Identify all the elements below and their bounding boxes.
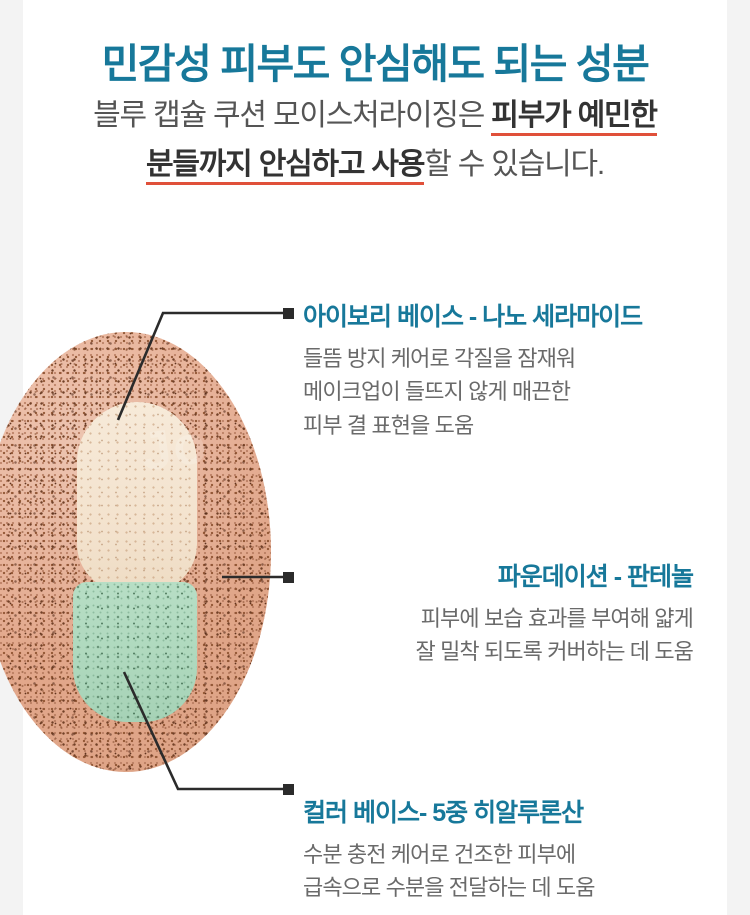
subtitle-line-1: 블루 캡슐 쿠션 모이스처라이징은 피부가 예민한 bbox=[23, 92, 727, 141]
callout-ivory-base: 아이보리 베이스 - 나노 세라마이드 들뜸 방지 케어로 각질을 잠재워 메이… bbox=[303, 297, 642, 442]
puff-circle: Jo bbox=[0, 332, 271, 772]
callout-2-body-line-1: 피부에 보습 효과를 부여해 얇게 bbox=[303, 602, 693, 635]
callout-1-body-line-3: 피부 결 표현을 도움 bbox=[303, 409, 642, 442]
callout-foundation: 파운데이션 - 판테놀 피부에 보습 효과를 부여해 얇게 잘 밀착 되도록 커… bbox=[303, 557, 693, 669]
subtitle-line-2-emphasis: 분들까지 안심하고 사용 bbox=[146, 148, 424, 185]
subtitle-block: 블루 캡슐 쿠션 모이스처라이징은 피부가 예민한 분들까지 안심하고 사용할 … bbox=[23, 92, 727, 189]
callout-1-heading: 아이보리 베이스 - 나노 세라마이드 bbox=[303, 297, 642, 333]
subtitle-line-2-normal: 할 수 있습니다. bbox=[424, 148, 604, 181]
callout-3-body-line-2: 급속으로 수분을 전달하는 데 도움 bbox=[303, 871, 595, 904]
ivory-zone-texture bbox=[77, 402, 197, 592]
subtitle-line-1-emphasis: 피부가 예민한 bbox=[491, 99, 657, 136]
mint-zone-texture bbox=[73, 582, 197, 722]
callout-1-body-line-2: 메이크업이 들뜨지 않게 매끈한 bbox=[303, 375, 642, 408]
callout-2-body: 피부에 보습 효과를 부여해 얇게 잘 밀착 되도록 커버하는 데 도움 bbox=[303, 602, 693, 669]
callout-3-body: 수분 충전 케어로 건조한 피부에 급속으로 수분을 전달하는 데 도움 bbox=[303, 838, 595, 905]
callout-3-heading: 컬러 베이스- 5중 히알루론산 bbox=[303, 793, 595, 829]
content-sheet: 민감성 피부도 안심해도 되는 성분 블루 캡슐 쿠션 모이스처라이징은 피부가… bbox=[23, 0, 727, 915]
subtitle-line-1-normal: 블루 캡슐 쿠션 모이스처라이징은 bbox=[93, 99, 491, 132]
callout-1-body: 들뜸 방지 케어로 각질을 잠재워 메이크업이 들뜨지 않게 매끈한 피부 결 … bbox=[303, 342, 642, 442]
callout-color-base: 컬러 베이스- 5중 히알루론산 수분 충전 케어로 건조한 피부에 급속으로 … bbox=[303, 793, 595, 905]
callout-2-body-line-2: 잘 밀착 되도록 커버하는 데 도움 bbox=[303, 635, 693, 668]
mint-color-zone bbox=[73, 582, 197, 722]
page-title: 민감성 피부도 안심해도 되는 성분 bbox=[23, 40, 727, 88]
cushion-puff-illustration: Jo bbox=[0, 332, 271, 772]
infographic-page: 민감성 피부도 안심해도 되는 성분 블루 캡슐 쿠션 모이스처라이징은 피부가… bbox=[0, 0, 750, 915]
callout-2-heading: 파운데이션 - 판테놀 bbox=[303, 557, 693, 593]
ivory-base-zone bbox=[77, 402, 197, 592]
callout-1-body-line-1: 들뜸 방지 케어로 각질을 잠재워 bbox=[303, 342, 642, 375]
callout-3-body-line-1: 수분 충전 케어로 건조한 피부에 bbox=[303, 838, 595, 871]
subtitle-line-2: 분들까지 안심하고 사용할 수 있습니다. bbox=[23, 141, 727, 190]
